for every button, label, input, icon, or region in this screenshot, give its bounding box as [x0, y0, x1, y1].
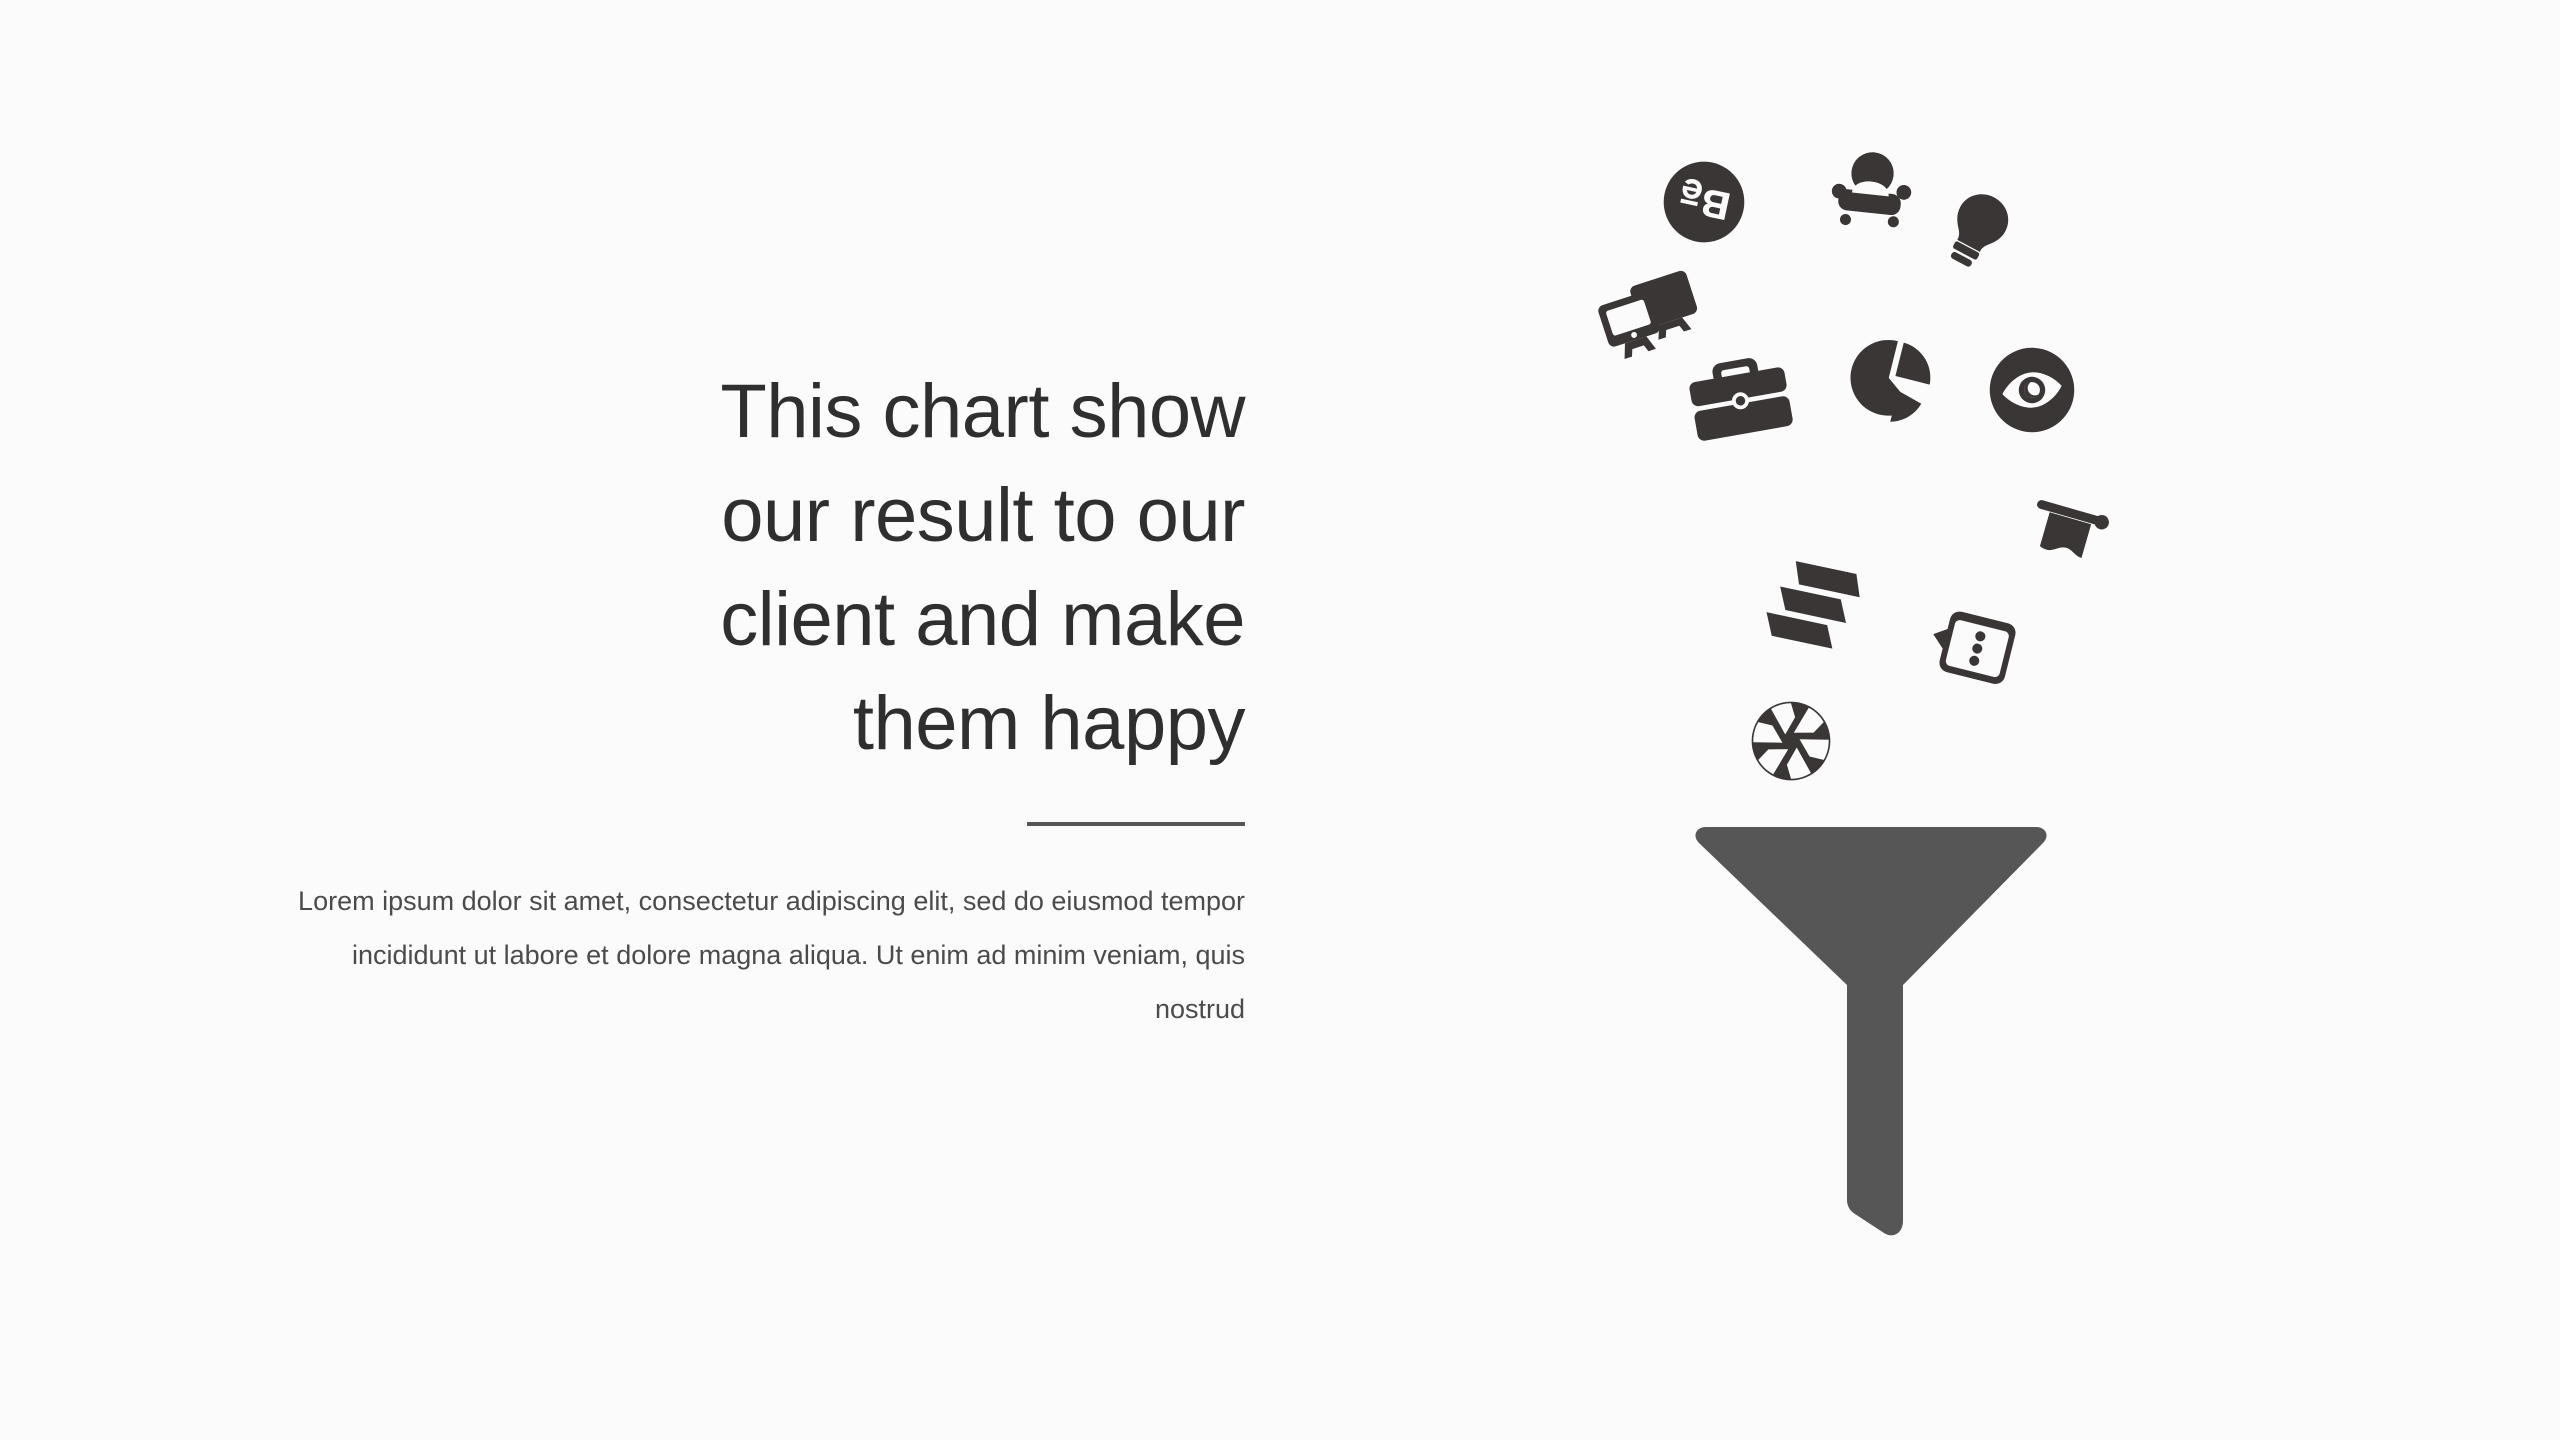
layers-icon	[1755, 551, 1874, 670]
funnel-graphic	[1600, 60, 2300, 1380]
funnel-shape	[1692, 825, 2050, 1255]
behance-icon	[1654, 152, 1754, 252]
divider-rule	[1027, 822, 1245, 826]
pie-chart-icon	[1838, 328, 1942, 432]
briefcase-icon	[1680, 338, 1800, 458]
page-title: This chart show our result to our client…	[280, 360, 1245, 776]
eye-icon	[1982, 340, 2081, 439]
text-column: This chart show our result to our client…	[280, 360, 1245, 1036]
body-paragraph: Lorem ipsum dolor sit amet, consectetur …	[280, 874, 1245, 1036]
cloud-tap-icon	[1820, 137, 1921, 238]
slide-canvas: This chart show our result to our client…	[0, 0, 2560, 1440]
aperture-icon	[1750, 700, 1832, 782]
flag-icon	[2016, 491, 2115, 590]
lightbulb-icon	[1923, 176, 2031, 284]
chat-bubble-icon	[1921, 598, 2023, 700]
